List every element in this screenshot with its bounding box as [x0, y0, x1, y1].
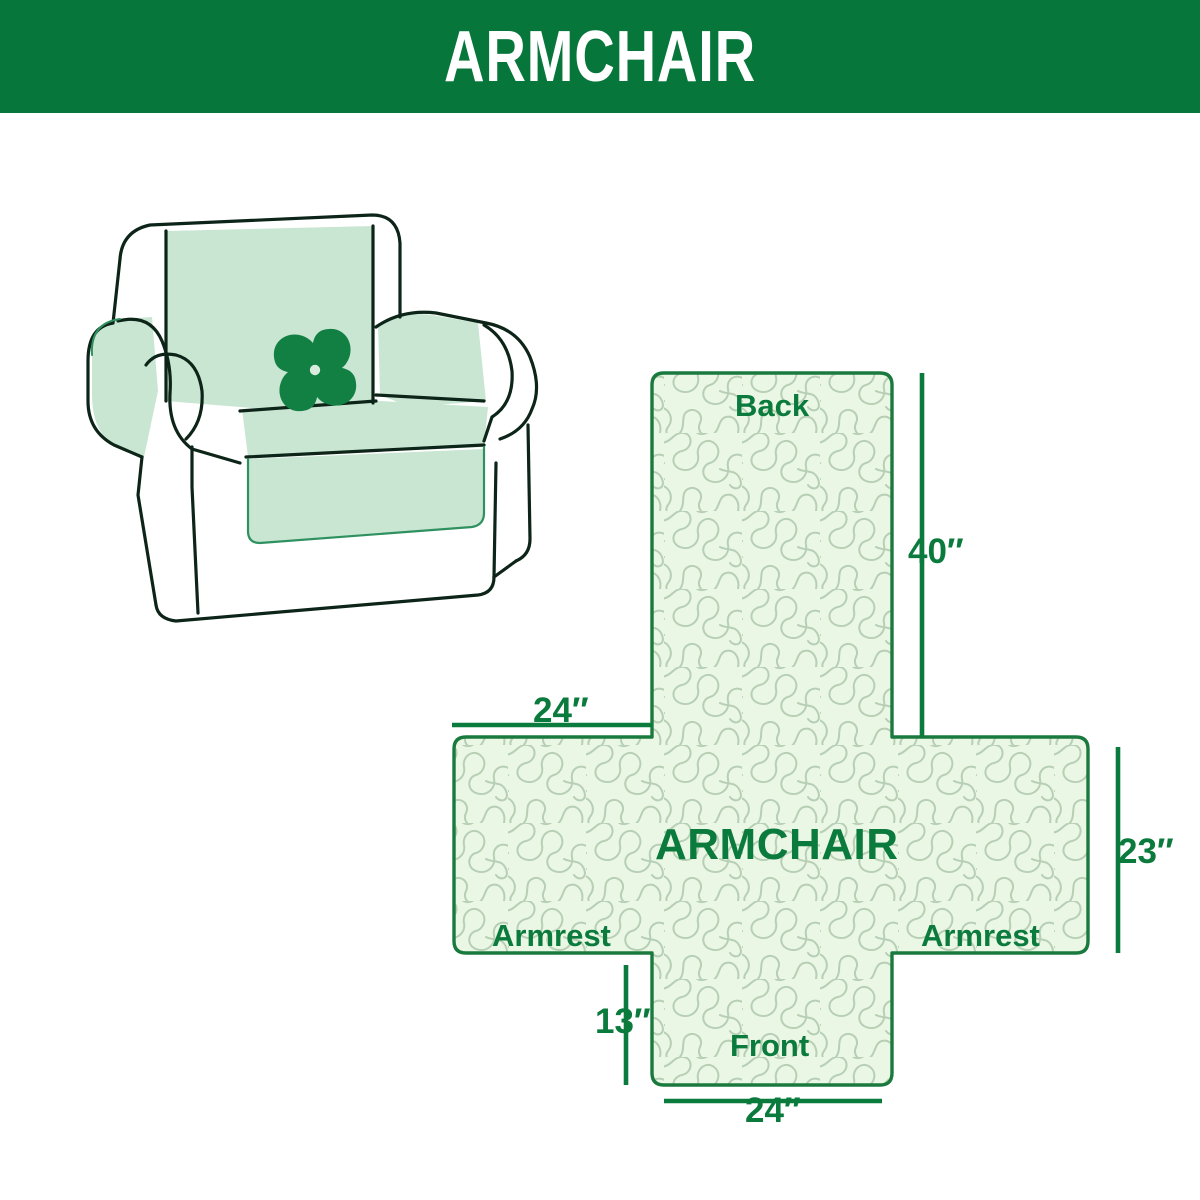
- dimension-label-front-drop: 13″: [595, 1002, 651, 1042]
- slipcover-pattern-diagram: [430, 355, 1200, 1145]
- panel-label-center: ARMCHAIR: [655, 820, 899, 870]
- dimension-label-back-length: 40″: [908, 532, 964, 572]
- panel-label-front: Front: [730, 1028, 809, 1064]
- pinwheel-fan-icon: [274, 329, 356, 411]
- page-root: ARMCHAIR: [0, 0, 1200, 1200]
- dimension-label-seat-depth: 23″: [1118, 832, 1174, 872]
- panel-label-armrest-right: Armrest: [921, 918, 1040, 954]
- panel-label-armrest-left: Armrest: [492, 918, 611, 954]
- dimension-label-back-width: 24″: [533, 691, 589, 731]
- panel-label-back: Back: [735, 388, 809, 424]
- dimension-label-front-width: 24″: [745, 1091, 801, 1131]
- header-banner: ARMCHAIR: [0, 0, 1200, 113]
- page-title: ARMCHAIR: [444, 21, 756, 93]
